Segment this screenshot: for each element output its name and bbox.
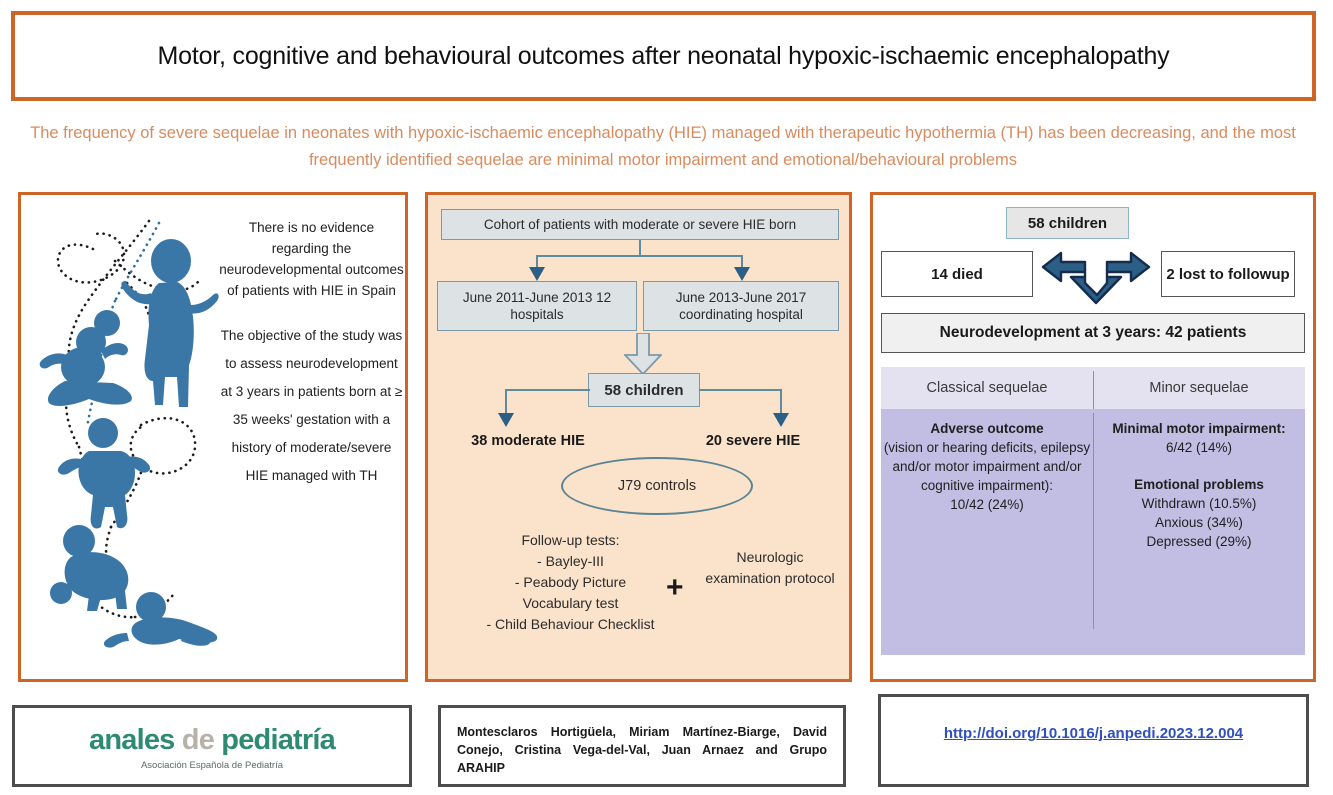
flow-box-total-children: 58 children <box>588 373 700 407</box>
flow-split-right-bar <box>699 389 782 391</box>
outcome-box-total-children: 58 children <box>1006 207 1129 239</box>
sequelae-table-body: Adverse outcome (vision or hearing defic… <box>881 409 1305 655</box>
adverse-outcome-detail: (vision or hearing deficits, epilepsy an… <box>881 438 1093 495</box>
plus-symbol: + <box>666 571 684 605</box>
sequelae-cell-minor: Minimal motor impairment: 6/42 (14%) Emo… <box>1093 409 1305 655</box>
emotional-problems-heading: Emotional problems <box>1093 475 1305 494</box>
logo-subtitle: Asociación Española de Pediatría <box>15 760 409 771</box>
block-arrow-down-icon <box>624 333 662 375</box>
panel-outcomes: 58 children 14 died 2 lost to followup N… <box>870 192 1316 682</box>
sequelae-cell-classical: Adverse outcome (vision or hearing defic… <box>881 409 1093 655</box>
followup-tests-title: Follow-up tests: <box>483 530 658 551</box>
arrowhead-down-severe-icon <box>773 413 789 429</box>
flow-connector-stem <box>639 240 641 256</box>
sequelae-header-classical: Classical sequelae <box>881 367 1093 409</box>
panel-background-rationale: There is no evidence regarding the neuro… <box>18 192 408 682</box>
label-severe-hie: 20 severe HIE <box>668 433 838 449</box>
emotional-problem-item: Withdrawn (10.5%) <box>1093 494 1305 513</box>
left-panel-text: There is no evidence regarding the neuro… <box>219 217 404 490</box>
followup-test-item: - Bayley-III <box>483 551 658 572</box>
minimal-motor-heading: Minimal motor impairment: <box>1093 419 1305 438</box>
adverse-outcome-heading: Adverse outcome <box>881 419 1093 438</box>
page-title: Motor, cognitive and behavioural outcome… <box>138 42 1190 71</box>
journal-logo: anales de pediatría Asociación Española … <box>15 724 409 771</box>
objective-paragraph: The objective of the study was to assess… <box>219 322 404 490</box>
rationale-paragraph: There is no evidence regarding the neuro… <box>219 217 404 301</box>
flow-connector-bar <box>537 255 742 257</box>
logo-word-de: de <box>182 724 214 756</box>
subtitle-text: The frequency of severe sequelae in neon… <box>18 120 1308 174</box>
logo-wordmark: anales de pediatría <box>15 724 409 757</box>
emotional-problem-item: Depressed (29%) <box>1093 532 1305 551</box>
followup-test-item: - Child Behaviour Checklist <box>483 614 658 635</box>
authors-box: Montesclaros Hortigüela, Miriam Martínez… <box>438 705 846 787</box>
sequelae-header-divider <box>1093 371 1094 409</box>
logo-word-pediatria: pediatría <box>221 724 335 756</box>
sequelae-table-header: Classical sequelae Minor sequelae <box>881 367 1305 409</box>
label-moderate-hie: 38 moderate HIE <box>443 433 613 449</box>
title-box: Motor, cognitive and behavioural outcome… <box>11 11 1316 101</box>
adverse-outcome-value: 10/42 (24%) <box>881 495 1093 514</box>
outcome-box-died: 14 died <box>881 251 1033 297</box>
logo-word-anales: anales <box>89 724 175 756</box>
flow-box-cohort: Cohort of patients with moderate or seve… <box>441 209 839 240</box>
sequelae-header-minor: Minor sequelae <box>1093 367 1305 409</box>
emotional-problem-item: Anxious (34%) <box>1093 513 1305 532</box>
controls-label: J79 controls <box>618 478 696 494</box>
panel-study-flowchart: Cohort of patients with moderate or seve… <box>425 192 852 682</box>
flow-box-period-1: June 2011-June 2013 12 hospitals <box>437 281 637 331</box>
controls-ellipse: J79 controls <box>561 457 753 515</box>
three-way-arrow-icon <box>1041 245 1151 307</box>
outcome-box-neurodevelopment: Neurodevelopment at 3 years: 42 patients <box>881 313 1305 353</box>
arrowhead-down-moderate-icon <box>498 413 514 429</box>
poster-root: Motor, cognitive and behavioural outcome… <box>0 0 1333 795</box>
children-silhouettes-illustration <box>31 209 221 659</box>
doi-link[interactable]: http://doi.org/10.1016/j.anpedi.2023.12.… <box>881 725 1306 742</box>
journal-logo-box: anales de pediatría Asociación Española … <box>12 705 412 787</box>
followup-tests-block: Follow-up tests: - Bayley-III - Peabody … <box>483 530 658 635</box>
flow-box-period-2: June 2013-June 2017 coordinating hospita… <box>643 281 839 331</box>
followup-test-item: - Peabody Picture Vocabulary test <box>483 572 658 614</box>
doi-box: http://doi.org/10.1016/j.anpedi.2023.12.… <box>878 694 1309 787</box>
sequelae-body-divider <box>1093 413 1094 629</box>
sequelae-table: Classical sequelae Minor sequelae Advers… <box>881 367 1305 655</box>
authors-list: Montesclaros Hortigüela, Miriam Martínez… <box>457 723 827 777</box>
flow-split-left-bar <box>505 389 590 391</box>
minimal-motor-value: 6/42 (14%) <box>1093 438 1305 457</box>
outcome-box-lost-to-followup: 2 lost to followup <box>1161 251 1295 297</box>
neurologic-exam-label: Neurologic examination protocol <box>700 547 840 589</box>
